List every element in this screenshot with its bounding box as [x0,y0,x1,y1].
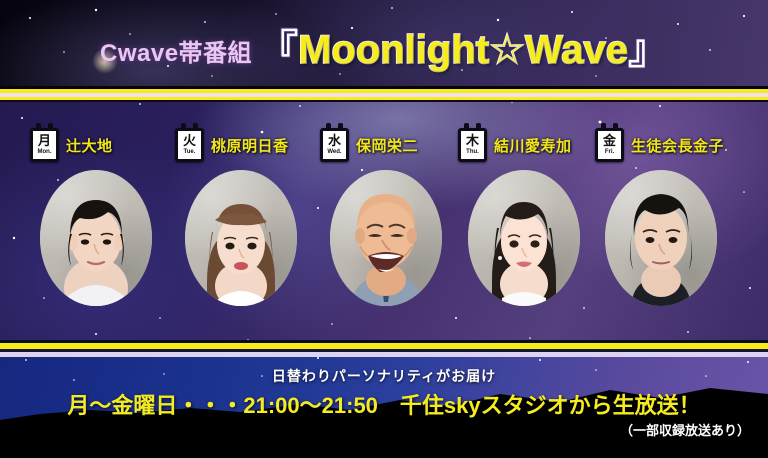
day-tag-wednesday: 水 Wed. 保岡栄二 [320,128,418,162]
cast-member-tuesday: 火 Tue. 桃原明日香 [175,88,325,346]
calendar-day-en: Mon. [38,149,52,155]
program-title-text: Moonlight☆Wave [298,28,628,72]
calendar-icon: 木 Thu. [458,128,487,162]
footer-schedule: 月〜金曜日・・・21:00〜21:50 千住skyスタジオから生放送！ [0,388,768,420]
program-title-row: Cwave帯番組 『Moonlight☆Wave』 [0,24,768,76]
portrait-tuesday [185,170,297,306]
calendar-icon: 水 Wed. [320,128,349,162]
calendar-day-en: Thu. [466,149,479,155]
cast-name-monday: 辻大地 [66,135,113,156]
calendar-day-kanji: 水 [328,134,341,147]
cast-member-friday: 金 Fri. 生徒会長金子 [595,88,745,346]
calendar-day-kanji: 火 [183,134,196,147]
program-title: 『Moonlight☆Wave』 [258,30,668,70]
calendar-day-kanji: 月 [38,134,51,147]
calendar-icon: 火 Tue. [175,128,204,162]
day-tag-monday: 月 Mon. 辻大地 [30,128,113,162]
cast-name-wednesday: 保岡栄二 [356,135,418,156]
bracket-open: 『 [258,28,298,72]
portrait-thursday [468,170,580,306]
avatar-thursday [468,170,580,306]
calendar-day-kanji: 木 [466,134,479,147]
calendar-day-en: Wed. [327,149,341,155]
cast-member-thursday: 木 Thu. 結川愛寿加 [458,88,608,346]
footer-tagline: 日替わりパーソナリティがお届け [0,366,768,386]
portrait-friday [605,170,717,306]
bracket-close: 』 [628,28,668,72]
portrait-monday [40,170,152,306]
calendar-day-en: Tue. [184,149,196,155]
cast-name-thursday: 結川愛寿加 [494,135,572,156]
cast-list: 月 Mon. 辻大地 [0,88,768,346]
cast-member-wednesday: 水 Wed. 保岡栄二 [320,88,470,346]
day-tag-tuesday: 火 Tue. 桃原明日香 [175,128,289,162]
portrait-wednesday [330,170,442,306]
calendar-icon: 月 Mon. [30,128,59,162]
avatar-friday [605,170,717,306]
avatar-wednesday [330,170,442,306]
footer-note: （一部収録放送あり） [620,420,750,439]
avatar-monday [40,170,152,306]
cast-name-friday: 生徒会長金子 [631,135,724,156]
day-tag-thursday: 木 Thu. 結川愛寿加 [458,128,572,162]
cast-member-monday: 月 Mon. 辻大地 [30,88,180,346]
calendar-icon: 金 Fri. [595,128,624,162]
avatar-tuesday [185,170,297,306]
day-tag-friday: 金 Fri. 生徒会長金子 [595,128,724,162]
calendar-day-en: Fri. [605,149,614,155]
brand-label: Cwave帯番組 [100,33,252,68]
program-poster: Cwave帯番組 『Moonlight☆Wave』 月 Mon. 辻大地 [0,0,768,458]
calendar-day-kanji: 金 [603,134,616,147]
cast-name-tuesday: 桃原明日香 [211,135,289,156]
